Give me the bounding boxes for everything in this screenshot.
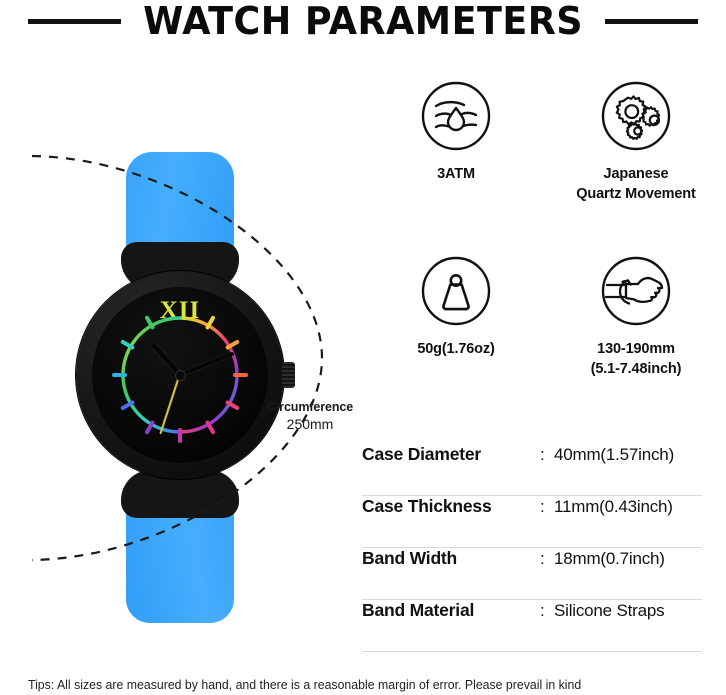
spec-separator: : (540, 549, 554, 569)
feature-label: 50g(1.76oz) (366, 339, 546, 359)
spec-value: 18mm(0.7inch) (554, 549, 665, 569)
table-row: Band Width : 18mm(0.7inch) (362, 548, 702, 600)
spec-table: Case Diameter : 40mm(1.57inch) Case Thic… (362, 444, 702, 652)
hour-marker (233, 373, 248, 377)
hour-marker (112, 373, 127, 377)
page-header: WATCH PARAMETERS (0, 0, 726, 42)
feature-label: Japanese Quartz Movement (546, 164, 726, 204)
table-row: Band Material : Silicone Straps (362, 600, 702, 652)
wrist-size-icon (600, 255, 672, 327)
gears-icon (600, 80, 672, 152)
title-rule-right (605, 19, 698, 24)
spec-label: Case Thickness (362, 496, 540, 517)
page-title: WATCH PARAMETERS (143, 2, 583, 40)
feature-wrist-size: 130-190mm (5.1-7.48inch) (546, 255, 726, 379)
circumference-title: Circumference (250, 400, 370, 416)
spec-separator: : (540, 497, 554, 517)
watch-illustration: XII (0, 58, 360, 648)
water-resistance-icon (420, 80, 492, 152)
spec-value: Silicone Straps (554, 601, 664, 621)
spec-value: 40mm(1.57inch) (554, 445, 674, 465)
hands-center-cap (176, 371, 185, 380)
table-row: Case Diameter : 40mm(1.57inch) (362, 444, 702, 496)
feature-weight: 50g(1.76oz) (366, 255, 546, 359)
weight-icon (420, 255, 492, 327)
feature-icon-grid: 3ATM Japanese Quartz Movement (366, 80, 726, 410)
spec-value: 11mm(0.43inch) (554, 497, 673, 517)
circumference-callout: Circumference 250mm (250, 400, 370, 433)
watch-case: XII (76, 271, 284, 479)
feature-label: 130-190mm (5.1-7.48inch) (546, 339, 726, 379)
hour-marker (178, 428, 182, 443)
feature-label: 3ATM (366, 164, 546, 184)
spec-separator: : (540, 445, 554, 465)
title-rule-left (28, 19, 121, 24)
footer-tip: Tips: All sizes are measured by hand, an… (28, 677, 708, 693)
watch-parameters-infographic: WATCH PARAMETERS XII (0, 0, 726, 695)
spec-label: Band Width (362, 548, 540, 569)
spec-separator: : (540, 601, 554, 621)
spec-label: Case Diameter (362, 444, 540, 465)
table-row: Case Thickness : 11mm(0.43inch) (362, 496, 702, 548)
circumference-value: 250mm (250, 416, 370, 434)
feature-water-resistance: 3ATM (366, 80, 546, 184)
watch-dial: XII (92, 287, 268, 463)
spec-label: Band Material (362, 600, 540, 621)
watch-crown (282, 362, 295, 388)
feature-movement: Japanese Quartz Movement (546, 80, 726, 204)
